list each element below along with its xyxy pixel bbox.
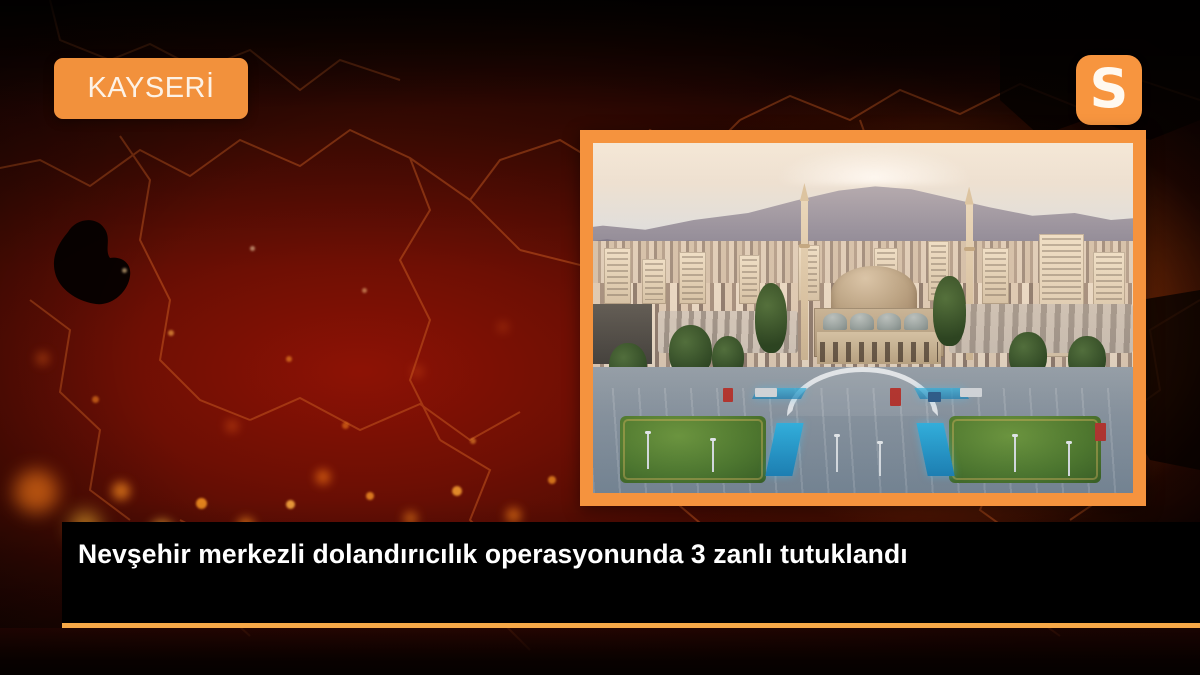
cloud [777, 147, 971, 186]
photo-frame [580, 130, 1146, 506]
brand-logo-mark: S [1090, 62, 1129, 116]
city-badge-label: KAYSERİ [87, 74, 214, 103]
mosque-small-dome [823, 313, 847, 331]
building [982, 248, 1009, 304]
building [604, 248, 631, 304]
billboard [755, 388, 777, 397]
billboard [960, 388, 982, 397]
building [679, 252, 706, 305]
lawn-left [620, 416, 766, 483]
street-lamp [712, 441, 714, 473]
building [642, 259, 666, 305]
kiosk [928, 392, 942, 403]
street-lamp [879, 444, 881, 476]
mosque-small-dome [877, 313, 901, 331]
street-lamp [1068, 444, 1070, 476]
street-lamp [647, 434, 649, 469]
kayseri-city-photo [593, 143, 1133, 493]
mosque-small-dome [904, 313, 928, 331]
mosque-arcade [817, 332, 941, 364]
news-card: KAYSERİ S [0, 0, 1200, 675]
city-badge: KAYSERİ [54, 58, 248, 119]
street-lamp [1014, 437, 1016, 472]
brand-s-logo: S [1076, 55, 1142, 125]
kiosk [890, 388, 901, 406]
tree [755, 283, 787, 353]
bottom-fade [0, 628, 1200, 675]
headline-band: Nevşehir merkezli dolandırıcılık operasy… [62, 522, 1200, 626]
street-lamp [836, 437, 838, 472]
kiosk [1095, 423, 1106, 441]
mosque-small-dome [850, 313, 874, 331]
lawn-right [949, 416, 1100, 483]
headline-text: Nevşehir merkezli dolandırıcılık operasy… [62, 522, 908, 571]
kiosk [723, 388, 734, 402]
tree [933, 276, 965, 346]
minaret-left [801, 199, 808, 360]
